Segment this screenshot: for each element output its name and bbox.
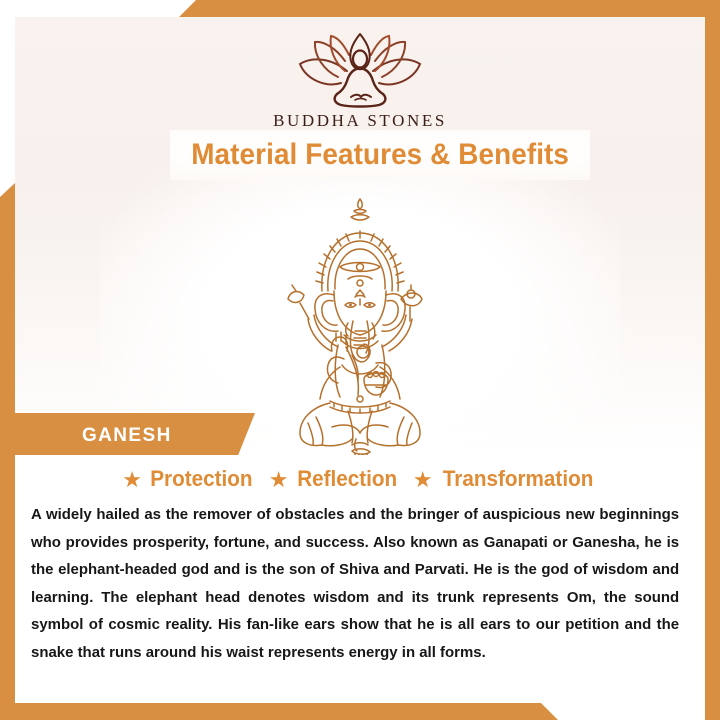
- feature-label-reflection: Reflection: [297, 466, 397, 492]
- feature-label-transformation: Transformation: [442, 466, 593, 492]
- description-text: A widely hailed as the remover of obstac…: [31, 501, 679, 666]
- title-band: Material Features & Benefits: [170, 130, 590, 180]
- feature-label-protection: Protection: [150, 466, 252, 492]
- star-icon: ★: [269, 469, 289, 491]
- page-title: Material Features & Benefits: [191, 138, 569, 172]
- star-icon: ★: [413, 469, 433, 491]
- star-icon: ★: [122, 469, 142, 491]
- brand-name: BUDDHA STONES: [15, 111, 705, 131]
- feature-list: ★ Protection ★ Reflection ★ Transformati…: [15, 455, 705, 492]
- frame-bottom-bar: [0, 703, 720, 720]
- feature-item-protection: ★ Protection: [122, 466, 256, 492]
- feature-item-reflection: ★ Reflection: [269, 466, 400, 492]
- frame-left-bar: [0, 183, 15, 720]
- poster-root: BUDDHA STONES Material Features & Benefi…: [0, 0, 720, 720]
- brand-logo-block: BUDDHA STONES: [15, 31, 705, 131]
- ganesh-illustration: [260, 195, 460, 455]
- lower-section: ★ Protection ★ Reflection ★ Transformati…: [15, 455, 705, 703]
- deity-name-banner: GANESH: [15, 413, 255, 455]
- frame-top-bar: [0, 0, 720, 17]
- upper-section: BUDDHA STONES Material Features & Benefi…: [15, 17, 705, 455]
- lotus-meditation-icon: [285, 31, 435, 109]
- frame-right-bar: [705, 0, 720, 720]
- deity-name-label: GANESH: [82, 425, 172, 447]
- feature-item-transformation: ★ Transformation: [413, 466, 598, 492]
